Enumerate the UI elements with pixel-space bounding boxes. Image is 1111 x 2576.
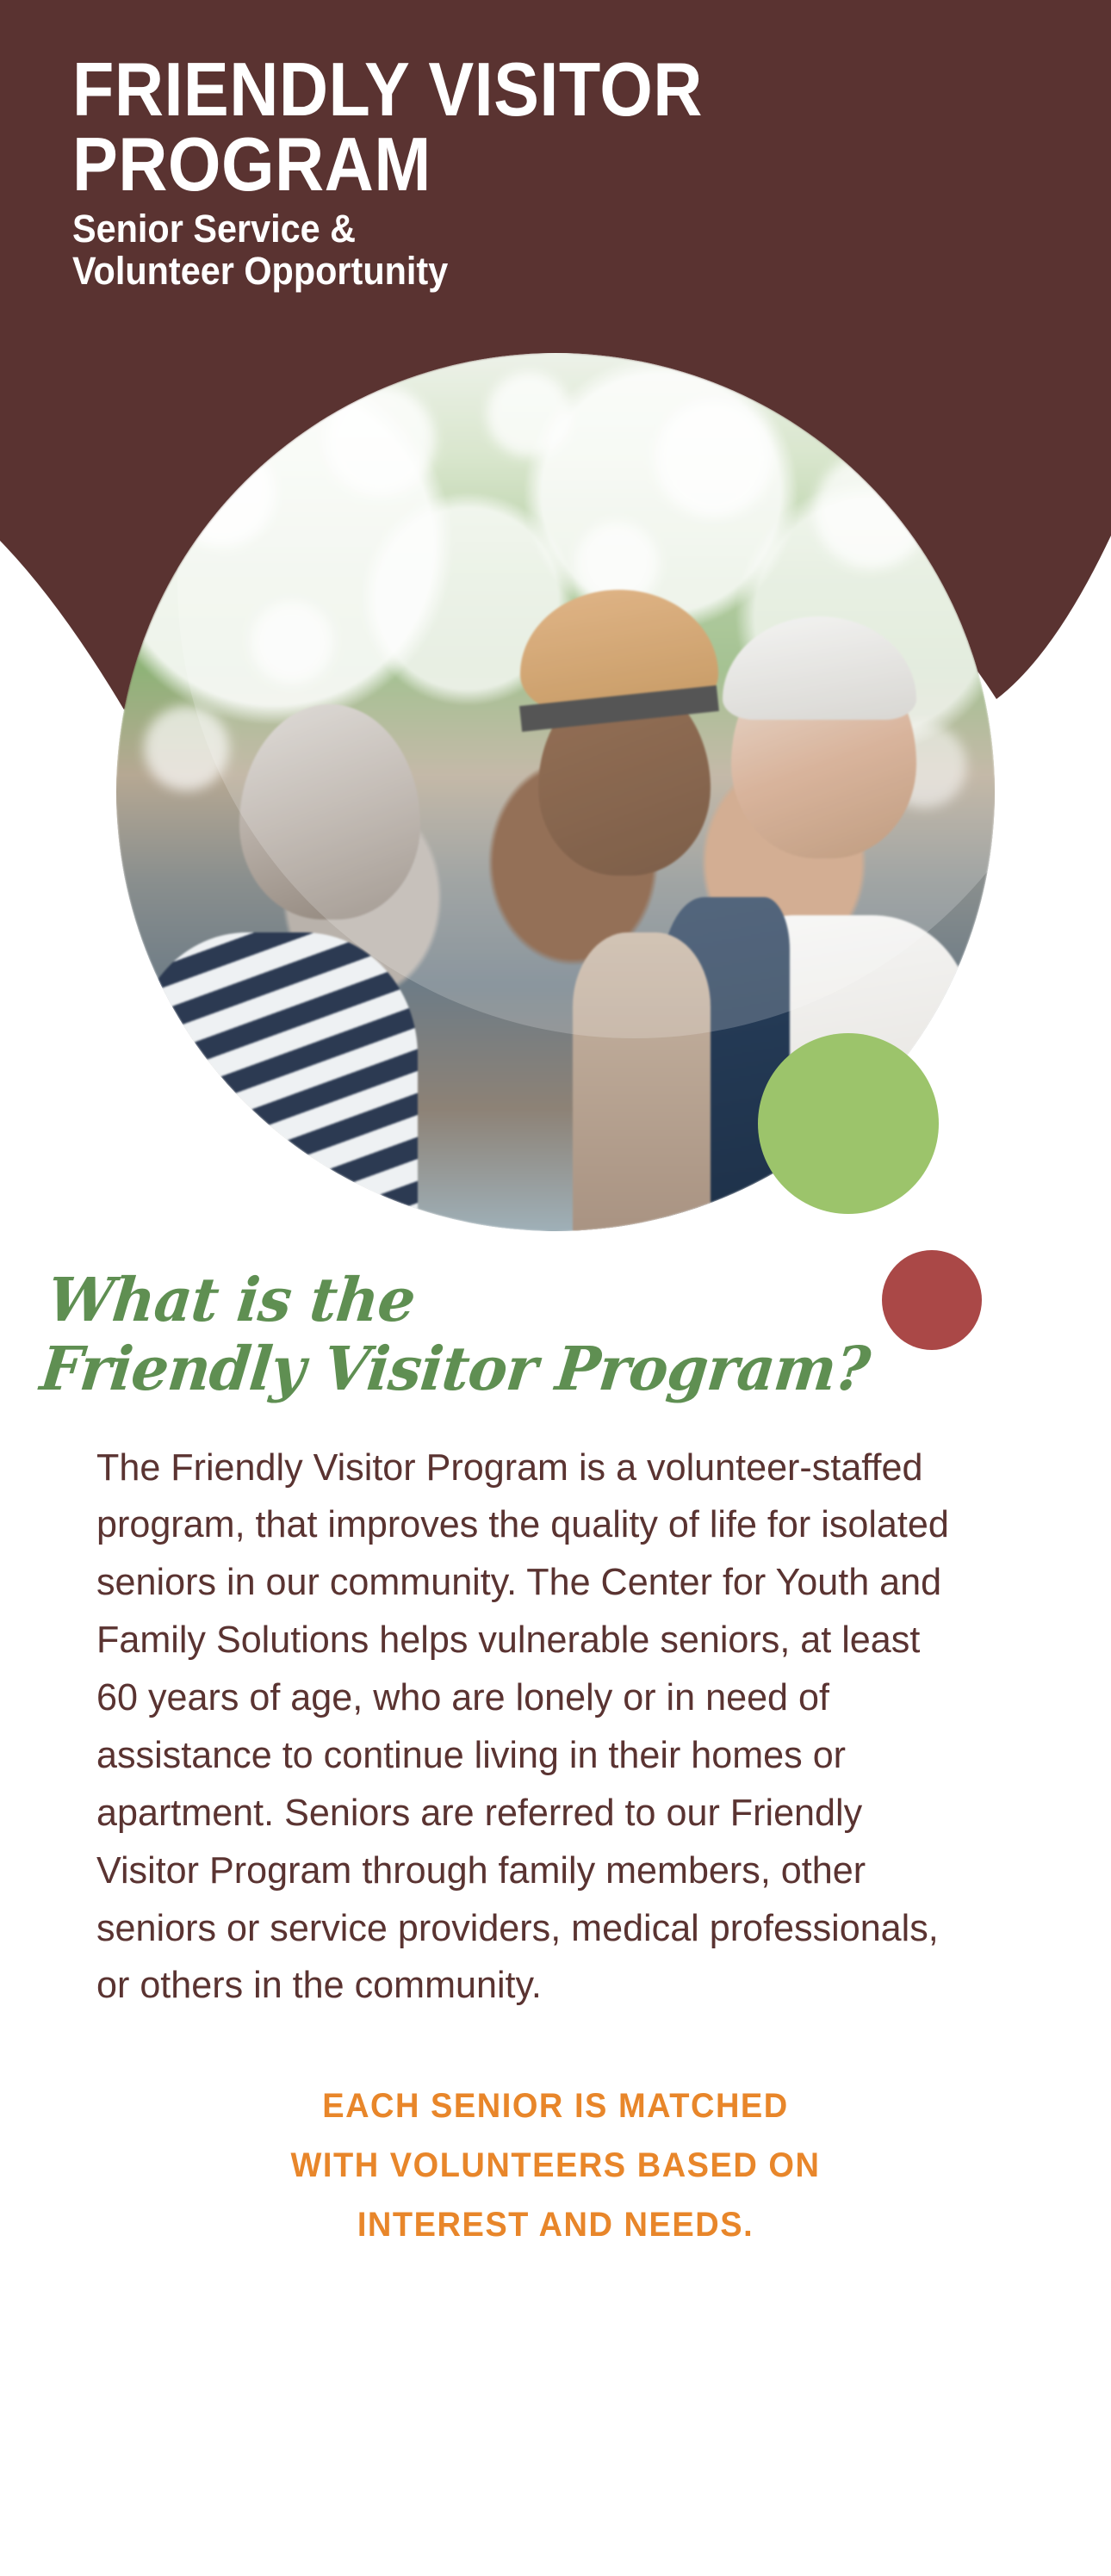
poster-page: FRIENDLY VISITOR PROGRAM Senior Service …	[0, 0, 1111, 2576]
body-section: What is the Friendly Visitor Program? Th…	[0, 1266, 1111, 2255]
header-text-block: FRIENDLY VISITOR PROGRAM Senior Service …	[72, 52, 916, 292]
decorative-green-circle	[758, 1033, 939, 1214]
page-title: FRIENDLY VISITOR PROGRAM	[72, 52, 832, 201]
body-paragraph: The Friendly Visitor Program is a volunt…	[96, 1440, 958, 2016]
decorative-red-circle	[882, 1250, 982, 1350]
page-subtitle: Senior Service & Volunteer Opportunity	[72, 208, 849, 292]
callout-text: EACH SENIOR IS MATCHED WITH VOLUNTEERS B…	[220, 2077, 891, 2254]
